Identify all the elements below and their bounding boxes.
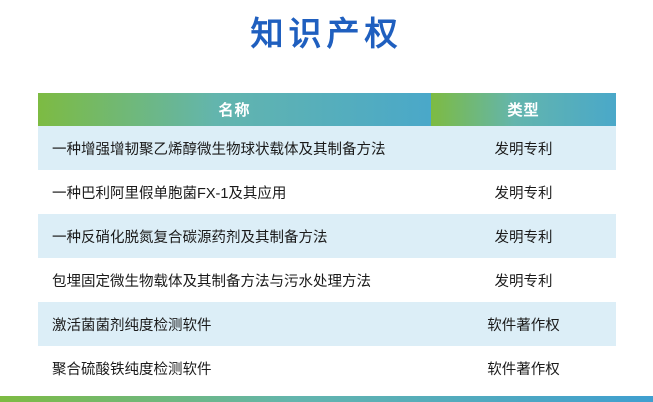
document-page: 知识产权 名称 类型 一种增强增韧聚乙烯醇微生物球状载体及其制备方法 发明专利 … bbox=[0, 0, 653, 402]
intellectual-property-table: 名称 类型 一种增强增韧聚乙烯醇微生物球状载体及其制备方法 发明专利 一种巴利阿… bbox=[38, 93, 616, 390]
cell-name: 聚合硫酸铁纯度检测软件 bbox=[38, 346, 431, 390]
table-row: 一种巴利阿里假单胞菌FX-1及其应用 发明专利 bbox=[38, 170, 616, 214]
table-row: 激活菌菌剂纯度检测软件 软件著作权 bbox=[38, 302, 616, 346]
page-title: 知识产权 bbox=[0, 0, 653, 54]
table-row: 一种增强增韧聚乙烯醇微生物球状载体及其制备方法 发明专利 bbox=[38, 126, 616, 170]
cell-type: 发明专利 bbox=[431, 126, 616, 170]
intellectual-property-table-wrap: 名称 类型 一种增强增韧聚乙烯醇微生物球状载体及其制备方法 发明专利 一种巴利阿… bbox=[38, 93, 616, 390]
cell-type: 软件著作权 bbox=[431, 346, 616, 390]
table-row: 聚合硫酸铁纯度检测软件 软件著作权 bbox=[38, 346, 616, 390]
cell-name: 一种反硝化脱氮复合碳源药剂及其制备方法 bbox=[38, 214, 431, 258]
table-header: 名称 类型 bbox=[38, 93, 616, 126]
table-body: 一种增强增韧聚乙烯醇微生物球状载体及其制备方法 发明专利 一种巴利阿里假单胞菌F… bbox=[38, 126, 616, 390]
cell-name: 激活菌菌剂纯度检测软件 bbox=[38, 302, 431, 346]
table-row: 包埋固定微生物载体及其制备方法与污水处理方法 发明专利 bbox=[38, 258, 616, 302]
cell-name: 包埋固定微生物载体及其制备方法与污水处理方法 bbox=[38, 258, 431, 302]
bottom-accent-bar bbox=[0, 396, 653, 402]
table-header-row: 名称 类型 bbox=[38, 93, 616, 126]
cell-name: 一种巴利阿里假单胞菌FX-1及其应用 bbox=[38, 170, 431, 214]
cell-type: 软件著作权 bbox=[431, 302, 616, 346]
cell-name: 一种增强增韧聚乙烯醇微生物球状载体及其制备方法 bbox=[38, 126, 431, 170]
column-header-name: 名称 bbox=[38, 93, 431, 126]
cell-type: 发明专利 bbox=[431, 214, 616, 258]
cell-type: 发明专利 bbox=[431, 170, 616, 214]
cell-type: 发明专利 bbox=[431, 258, 616, 302]
column-header-type: 类型 bbox=[431, 93, 616, 126]
table-row: 一种反硝化脱氮复合碳源药剂及其制备方法 发明专利 bbox=[38, 214, 616, 258]
